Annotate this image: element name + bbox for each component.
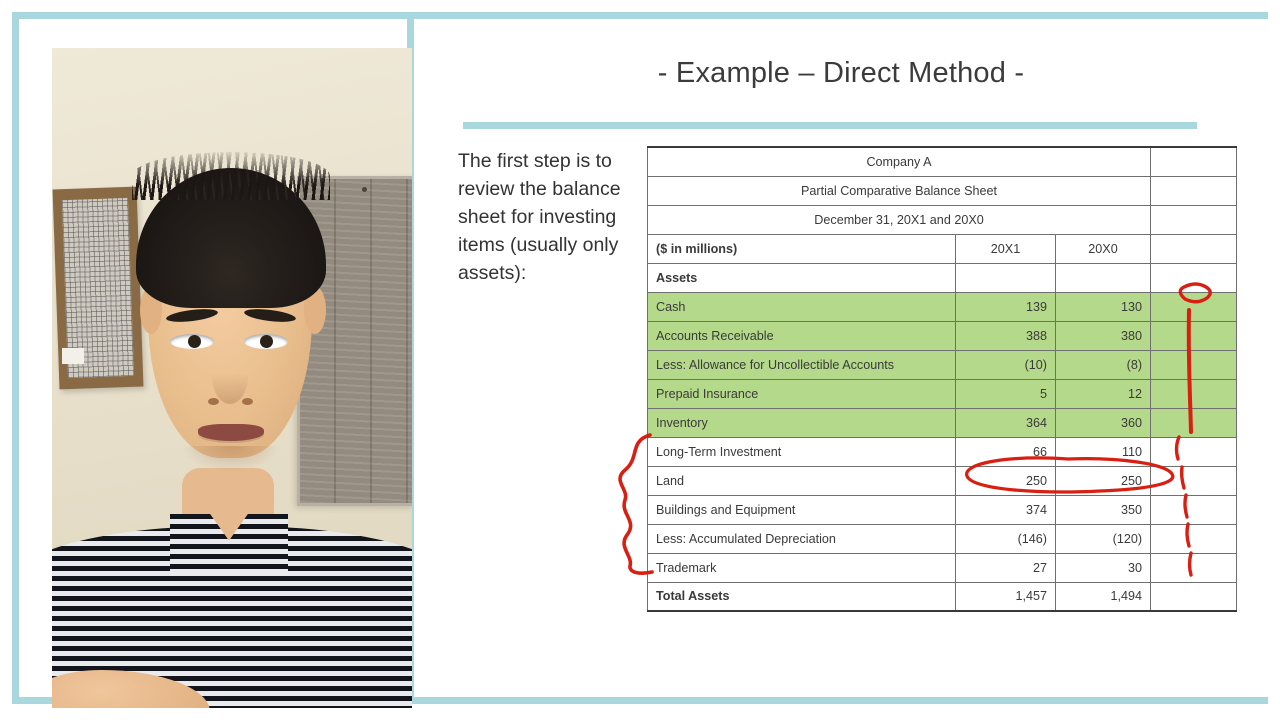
units-label-cell: ($ in millions) — [648, 234, 956, 263]
row-value-year0: 380 — [1056, 321, 1151, 350]
row-value-year0: 250 — [1056, 466, 1151, 495]
presenter-pupil-left — [188, 335, 201, 348]
row-value-year0: (8) — [1056, 350, 1151, 379]
row-value-year1: 5 — [956, 379, 1056, 408]
presenter-webcam-feed[interactable] — [52, 48, 412, 708]
statement-title-cell: Partial Comparative Balance Sheet — [648, 176, 1151, 205]
row-label: Less: Allowance for Uncollectible Accoun… — [648, 350, 956, 379]
row-label: Accounts Receivable — [648, 321, 956, 350]
table-row: Prepaid Insurance 5 12 — [648, 379, 1237, 408]
table-row: Buildings and Equipment 374 350 — [648, 495, 1237, 524]
presenter-nose — [212, 348, 248, 404]
row-label: Inventory — [648, 408, 956, 437]
title-accent-rule — [463, 122, 1197, 129]
section-label-assets: Assets — [648, 263, 956, 292]
row-value-year0: (120) — [1056, 524, 1151, 553]
company-name-cell: Company A — [648, 147, 1151, 176]
presenter-chin-shadow — [182, 446, 280, 472]
total-note-cell — [1151, 582, 1237, 611]
notes-cell-heading-1 — [1151, 147, 1237, 176]
screen-root: - Example – Direct Method - The first st… — [0, 0, 1280, 720]
row-note-cell — [1151, 321, 1237, 350]
presenter-nostril-left — [208, 398, 219, 405]
page-title: - Example – Direct Method - — [414, 57, 1268, 90]
row-note-cell — [1151, 379, 1237, 408]
row-value-year1: 250 — [956, 466, 1056, 495]
row-value-year0: 130 — [1056, 292, 1151, 321]
row-note-cell — [1151, 524, 1237, 553]
row-value-year0: 110 — [1056, 437, 1151, 466]
table-row: Less: Allowance for Uncollectible Accoun… — [648, 350, 1237, 379]
presenter-hair — [136, 168, 326, 308]
balance-sheet-table: Company A Partial Comparative Balance Sh… — [647, 146, 1237, 612]
row-label: Less: Accumulated Depreciation — [648, 524, 956, 553]
row-label: Long-Term Investment — [648, 437, 956, 466]
table-column-header-row: ($ in millions) 20X1 20X0 — [648, 234, 1237, 263]
row-value-year0: 30 — [1056, 553, 1151, 582]
video-panel — [19, 19, 407, 697]
presenter-mouth — [198, 424, 264, 441]
row-note-cell — [1151, 350, 1237, 379]
row-value-year1: 388 — [956, 321, 1056, 350]
table-row: Long-Term Investment 66 110 — [648, 437, 1237, 466]
row-label: Land — [648, 466, 956, 495]
statement-date-cell: December 31, 20X1 and 20X0 — [648, 205, 1151, 234]
row-note-cell — [1151, 292, 1237, 321]
total-value-year1: 1,457 — [956, 582, 1056, 611]
row-value-year1: (146) — [956, 524, 1056, 553]
row-value-year1: 139 — [956, 292, 1056, 321]
intro-paragraph: The first step is to review the balance … — [458, 147, 638, 287]
row-value-year0: 350 — [1056, 495, 1151, 524]
row-note-cell — [1151, 408, 1237, 437]
table-row: Land 250 250 — [648, 466, 1237, 495]
section-header-row: Assets — [648, 263, 1237, 292]
wall-note-paper — [62, 348, 84, 364]
table-row: Less: Accumulated Depreciation (146) (12… — [648, 524, 1237, 553]
notes-cell-heading-2 — [1151, 176, 1237, 205]
column-header-year1: 20X1 — [956, 234, 1056, 263]
table-heading-row: Company A — [648, 147, 1237, 176]
row-note-cell — [1151, 466, 1237, 495]
row-note-cell — [1151, 495, 1237, 524]
row-label: Cash — [648, 292, 956, 321]
column-header-year0: 20X0 — [1056, 234, 1151, 263]
presenter-pupil-right — [260, 335, 273, 348]
row-value-year1: (10) — [956, 350, 1056, 379]
column-header-notes — [1151, 234, 1237, 263]
table-row: Cash 139 130 — [648, 292, 1237, 321]
row-value-year1: 66 — [956, 437, 1056, 466]
row-value-year0: 360 — [1056, 408, 1151, 437]
row-label: Trademark — [648, 553, 956, 582]
table-row: Trademark 27 30 — [648, 553, 1237, 582]
total-label: Total Assets — [648, 582, 956, 611]
table-heading-row: Partial Comparative Balance Sheet — [648, 176, 1237, 205]
notes-cell-heading-3 — [1151, 205, 1237, 234]
slide-content: - Example – Direct Method - The first st… — [414, 19, 1268, 697]
presenter-nostril-right — [242, 398, 253, 405]
row-value-year1: 374 — [956, 495, 1056, 524]
row-label: Buildings and Equipment — [648, 495, 956, 524]
row-value-year1: 27 — [956, 553, 1056, 582]
row-value-year1: 364 — [956, 408, 1056, 437]
door-knob-dot — [362, 187, 367, 192]
total-value-year0: 1,494 — [1056, 582, 1151, 611]
section-blank-year1 — [956, 263, 1056, 292]
balance-sheet-table-wrapper: Company A Partial Comparative Balance Sh… — [647, 146, 1236, 612]
table-row: Accounts Receivable 388 380 — [648, 321, 1237, 350]
section-blank-year0 — [1056, 263, 1151, 292]
table-row: Inventory 364 360 — [648, 408, 1237, 437]
table-total-row: Total Assets 1,457 1,494 — [648, 582, 1237, 611]
row-label: Prepaid Insurance — [648, 379, 956, 408]
table-heading-row: December 31, 20X1 and 20X0 — [648, 205, 1237, 234]
row-value-year0: 12 — [1056, 379, 1151, 408]
row-note-cell — [1151, 553, 1237, 582]
row-note-cell — [1151, 437, 1237, 466]
balance-sheet-body: Company A Partial Comparative Balance Sh… — [648, 147, 1237, 611]
section-blank-notes — [1151, 263, 1237, 292]
